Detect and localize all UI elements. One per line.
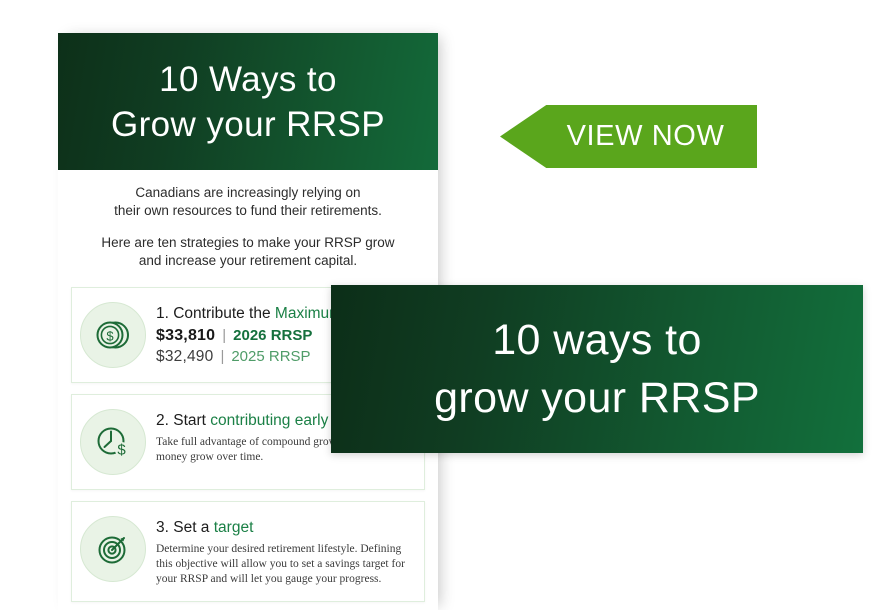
tip-card-3[interactable]: 3. Set a target Determine your desired r… — [71, 501, 425, 602]
panel-title-line-1: 10 Ways to — [159, 57, 337, 102]
tip-1-amount-current: $33,810 — [156, 327, 215, 345]
tip-1-year-previous: 2025 RRSP — [231, 348, 310, 365]
intro-paragraph-1: Canadians are increasingly relying on th… — [80, 184, 416, 220]
tip-2-highlight: contributing early — [210, 412, 328, 429]
intro-paragraph-2: Here are ten strategies to make your RRS… — [80, 234, 416, 270]
tip-3-number: 3. Set a — [156, 519, 214, 536]
tip-3-highlight: target — [214, 519, 254, 536]
svg-text:$: $ — [117, 441, 126, 458]
coins-dollar-icon: $ — [80, 302, 146, 368]
panel-title-line-2: Grow your RRSP — [111, 102, 385, 147]
view-now-label: VIEW NOW — [533, 120, 725, 153]
tip-1-amount-previous: $32,490 — [156, 348, 213, 366]
overlay-banner-line-1: 10 ways to — [492, 311, 702, 369]
tip-1-year-current: 2026 RRSP — [233, 327, 312, 344]
intro-p2-line-1: Here are ten strategies to make your RRS… — [101, 235, 394, 250]
tip-1-separator-current: | — [222, 327, 226, 344]
panel-intro: Canadians are increasingly relying on th… — [58, 170, 438, 276]
panel-header: 10 Ways to Grow your RRSP — [58, 33, 438, 170]
tip-3-description: Determine your desired retirement lifest… — [156, 542, 414, 587]
tip-body-3: 3. Set a target Determine your desired r… — [156, 516, 414, 587]
svg-text:$: $ — [106, 328, 114, 343]
tip-2-number: 2. Start — [156, 412, 210, 429]
overlay-banner: 10 ways to grow your RRSP — [331, 285, 863, 453]
target-arrow-icon — [80, 516, 146, 582]
tip-1-separator-previous: | — [220, 348, 224, 365]
tip-1-number: 1. Contribute the — [156, 305, 275, 322]
tip-title-3: 3. Set a target — [156, 518, 414, 538]
clock-dollar-icon: $ — [80, 409, 146, 475]
intro-p1-line-1: Canadians are increasingly relying on — [135, 185, 360, 200]
intro-p2-line-2: and increase your retirement capital. — [139, 253, 357, 268]
overlay-banner-line-2: grow your RRSP — [434, 369, 760, 427]
intro-p1-line-2: their own resources to fund their retire… — [114, 203, 382, 218]
view-now-button[interactable]: VIEW NOW — [500, 105, 757, 168]
